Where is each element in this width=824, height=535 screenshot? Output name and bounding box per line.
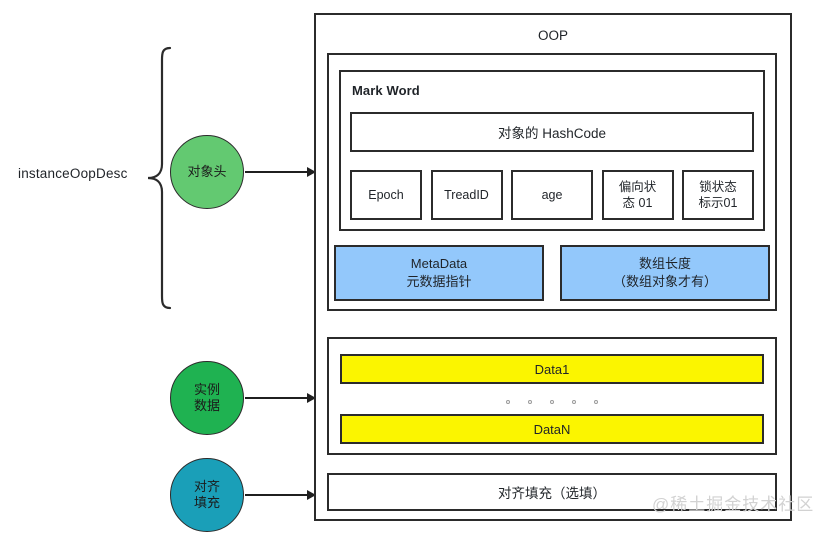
ellipsis-dots [340,396,764,408]
metadata-pointer-box[interactable]: MetaData 元数据指针 [334,245,544,301]
metadata-pointer-line1: MetaData [411,256,467,271]
mark-word-field-biased-state[interactable]: 偏向状 态 01 [602,170,674,220]
circle-instance-data[interactable]: 实例 数据 [170,361,244,435]
oop-title: OOP [314,28,792,43]
mark-word-field-lock-state-line2: 标示01 [699,196,738,210]
mark-word-field-biased-state-line2: 态 01 [623,196,653,210]
pointer-row: MetaData 元数据指针 数组长度 （数组对象才有） [334,245,770,301]
circle-instance-data-line2: 数据 [194,398,220,414]
alignment-padding-label: 对齐填充（选填） [498,482,606,502]
mark-word-field-lock-state-line1: 锁状态 [699,180,737,194]
arrow-object-header [245,171,315,173]
circle-alignment-padding[interactable]: 对齐 填充 [170,458,244,532]
mark-word-field-row: Epoch TreadID age 偏向状 态 01 锁状态 标示01 [350,170,754,220]
circle-instance-data-line1: 实例 [194,382,220,398]
instance-oop-desc-label: instanceOopDesc [18,166,128,181]
mark-word-field-threadid[interactable]: TreadID [431,170,503,220]
mark-word-field-age[interactable]: age [511,170,593,220]
arrow-instance-data [245,397,315,399]
array-length-box[interactable]: 数组长度 （数组对象才有） [560,245,770,301]
ellipsis-dot [594,400,598,404]
circle-alignment-padding-line2: 填充 [194,495,220,511]
array-length-line2: （数组对象才有） [613,274,717,289]
hashcode-label: 对象的 HashCode [498,122,606,142]
data-row-last-label: DataN [534,422,571,437]
mark-word-field-age-line1: age [542,188,563,202]
mark-word-field-epoch-line1: Epoch [368,188,403,202]
ellipsis-dot [550,400,554,404]
mark-word-field-biased-state-line1: 偏向状 [619,180,657,194]
ellipsis-dot [506,400,510,404]
array-length-line1: 数组长度 [639,256,691,271]
ellipsis-dot [528,400,532,404]
curly-brace-icon [146,46,172,310]
data-row-first-label: Data1 [535,362,570,377]
metadata-pointer-line2: 元数据指针 [406,274,471,289]
circle-alignment-padding-line1: 对齐 [194,479,220,495]
mark-word-field-threadid-line1: TreadID [444,188,489,202]
hashcode-box[interactable]: 对象的 HashCode [350,112,754,152]
mark-word-field-lock-state[interactable]: 锁状态 标示01 [682,170,754,220]
circle-object-header[interactable]: 对象头 [170,135,244,209]
ellipsis-dot [572,400,576,404]
circle-object-header-line1: 对象头 [187,164,226,180]
data-row-last[interactable]: DataN [340,414,764,444]
alignment-padding-box[interactable]: 对齐填充（选填） [327,473,777,511]
mark-word-field-epoch[interactable]: Epoch [350,170,422,220]
diagram-canvas: instanceOopDesc 对象头 实例 数据 对齐 填充 OOP Mark… [0,0,824,535]
arrow-alignment-padding [245,494,315,496]
mark-word-title: Mark Word [352,83,420,98]
data-row-first[interactable]: Data1 [340,354,764,384]
